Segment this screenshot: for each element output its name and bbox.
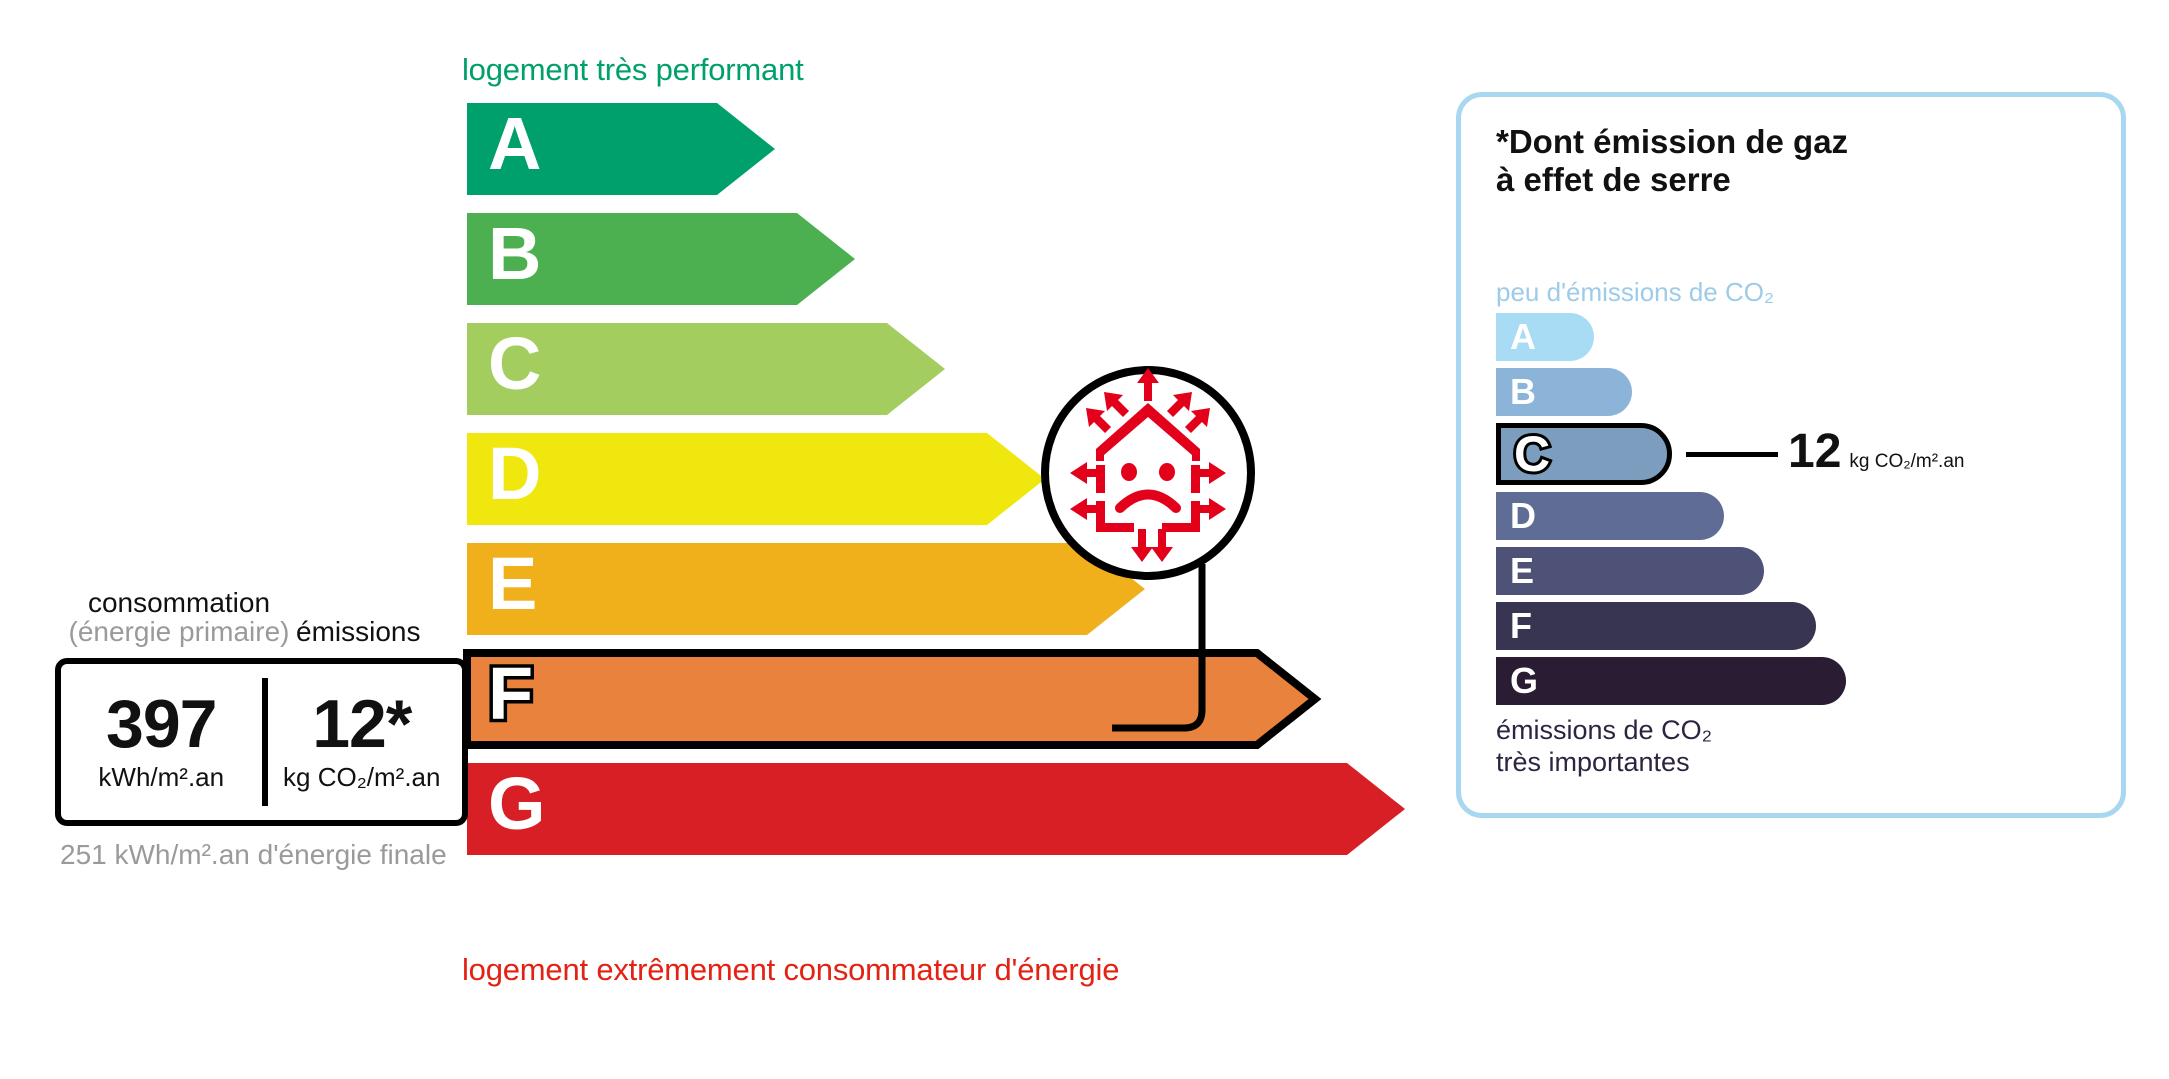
energy-band-e: E bbox=[462, 538, 1140, 630]
ges-bar-shape bbox=[1496, 657, 1846, 705]
ges-bar-e: E bbox=[1496, 547, 1764, 595]
ges-top-caption: peu d'émissions de CO₂ bbox=[1496, 277, 1774, 308]
energy-value-unit: kWh/m².an bbox=[98, 762, 224, 793]
ges-leader-line bbox=[1686, 452, 1778, 457]
co2-value: 12* bbox=[312, 691, 411, 758]
value-box: 397 kWh/m².an 12* kg CO₂/m².an bbox=[55, 658, 468, 826]
final-energy-note: 251 kWh/m².an d'énergie finale bbox=[60, 838, 447, 872]
energy-value-cell: 397 kWh/m².an bbox=[61, 664, 262, 820]
ges-bar-g: G bbox=[1496, 657, 1846, 705]
ges-panel: *Dont émission de gaz à effet de serre p… bbox=[1456, 92, 2126, 818]
energy-band-letter: G bbox=[488, 767, 546, 841]
ges-bar-letter: E bbox=[1510, 553, 1534, 589]
energy-bottom-caption: logement extrêmement consommateur d'éner… bbox=[462, 952, 1119, 988]
ges-value-number: 12 bbox=[1788, 425, 1841, 478]
ges-bar-shape bbox=[1496, 547, 1764, 595]
co2-value-cell: 12* kg CO₂/m².an bbox=[262, 664, 463, 820]
consommation-label: consommation (énergie primaire) bbox=[64, 588, 294, 647]
ges-bar-letter: G bbox=[1510, 663, 1538, 699]
ges-value: 12kg CO₂/m².an bbox=[1788, 428, 1964, 476]
energy-band-letter: B bbox=[488, 217, 541, 291]
energy-band-f: F bbox=[462, 648, 1310, 740]
energy-band-c: C bbox=[462, 318, 940, 410]
ges-bar-letter: B bbox=[1510, 374, 1536, 410]
ges-bottom-caption: émissions de CO₂ très importantes bbox=[1496, 714, 1712, 779]
energy-band-letter: E bbox=[488, 547, 537, 621]
consommation-label-text: consommation bbox=[88, 587, 270, 618]
emissions-label: émissions bbox=[296, 616, 420, 648]
ges-bar-shape bbox=[1496, 602, 1816, 650]
ges-bar-f: F bbox=[1496, 602, 1816, 650]
energy-value: 397 bbox=[106, 691, 216, 758]
energy-band-d: D bbox=[462, 428, 1040, 520]
sad-house-icon bbox=[1040, 365, 1256, 581]
energy-band-g: G bbox=[462, 758, 1400, 850]
ges-bar-letter: F bbox=[1510, 608, 1532, 644]
energy-performance-panel: logement très performant ABCDEFG logemen… bbox=[0, 0, 1400, 1079]
ges-bar-b: B bbox=[1496, 368, 1632, 416]
energy-band-letter: D bbox=[488, 437, 541, 511]
co2-value-unit: kg CO₂/m².an bbox=[283, 762, 440, 793]
ges-bar-letter: A bbox=[1510, 319, 1536, 355]
ges-bar-a: A bbox=[1496, 313, 1594, 361]
energy-band-a: A bbox=[462, 98, 770, 190]
ges-bar-letter: C bbox=[1514, 429, 1550, 479]
ges-bar-d: D bbox=[1496, 492, 1724, 540]
energy-top-caption: logement très performant bbox=[462, 52, 804, 88]
consommation-sub-label: (énergie primaire) bbox=[64, 617, 294, 646]
ges-title: *Dont émission de gaz à effet de serre bbox=[1496, 123, 1848, 200]
energy-band-b: B bbox=[462, 208, 850, 300]
ges-value-unit: kg CO₂/m².an bbox=[1849, 451, 1964, 472]
dpe-diagram: logement très performant ABCDEFG logemen… bbox=[0, 0, 2169, 1079]
energy-band-letter: C bbox=[488, 327, 541, 401]
ges-bar-letter: D bbox=[1510, 498, 1536, 534]
ges-bar-c: C bbox=[1496, 423, 1672, 485]
energy-band-letter: F bbox=[488, 657, 533, 731]
energy-band-letter: A bbox=[488, 107, 541, 181]
